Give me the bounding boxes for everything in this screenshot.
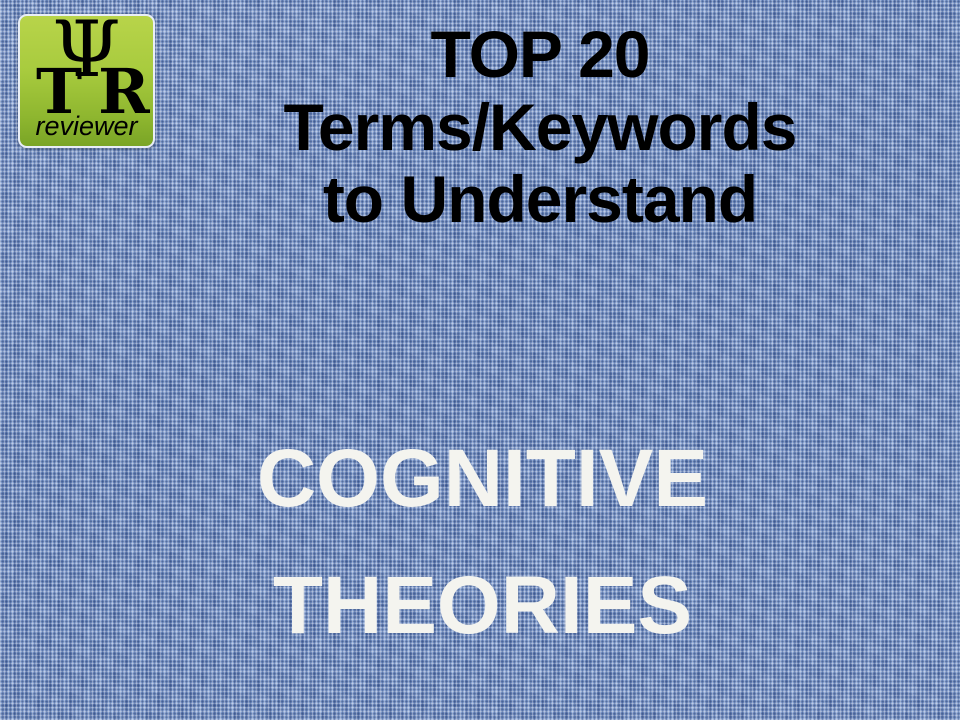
headline-line-1: TOP 20	[160, 18, 920, 91]
subtitle-line-1: COGNITIVE	[80, 415, 885, 542]
logo-wordmark: reviewer	[20, 113, 153, 140]
headline-line-3: to Understand	[160, 163, 920, 236]
logo-mark: Ψ TR	[20, 17, 153, 115]
psi-reviewer-logo[interactable]: Ψ TR reviewer	[18, 14, 155, 148]
headline-line-2: Terms/Keywords	[160, 91, 920, 164]
page-title: TOP 20 Terms/Keywords to Understand	[160, 18, 920, 236]
page-subtitle: COGNITIVE THEORIES	[80, 415, 885, 669]
subtitle-line-2: THEORIES	[80, 542, 885, 669]
slide-canvas: Ψ TR reviewer TOP 20 Terms/Keywords to U…	[0, 0, 960, 720]
